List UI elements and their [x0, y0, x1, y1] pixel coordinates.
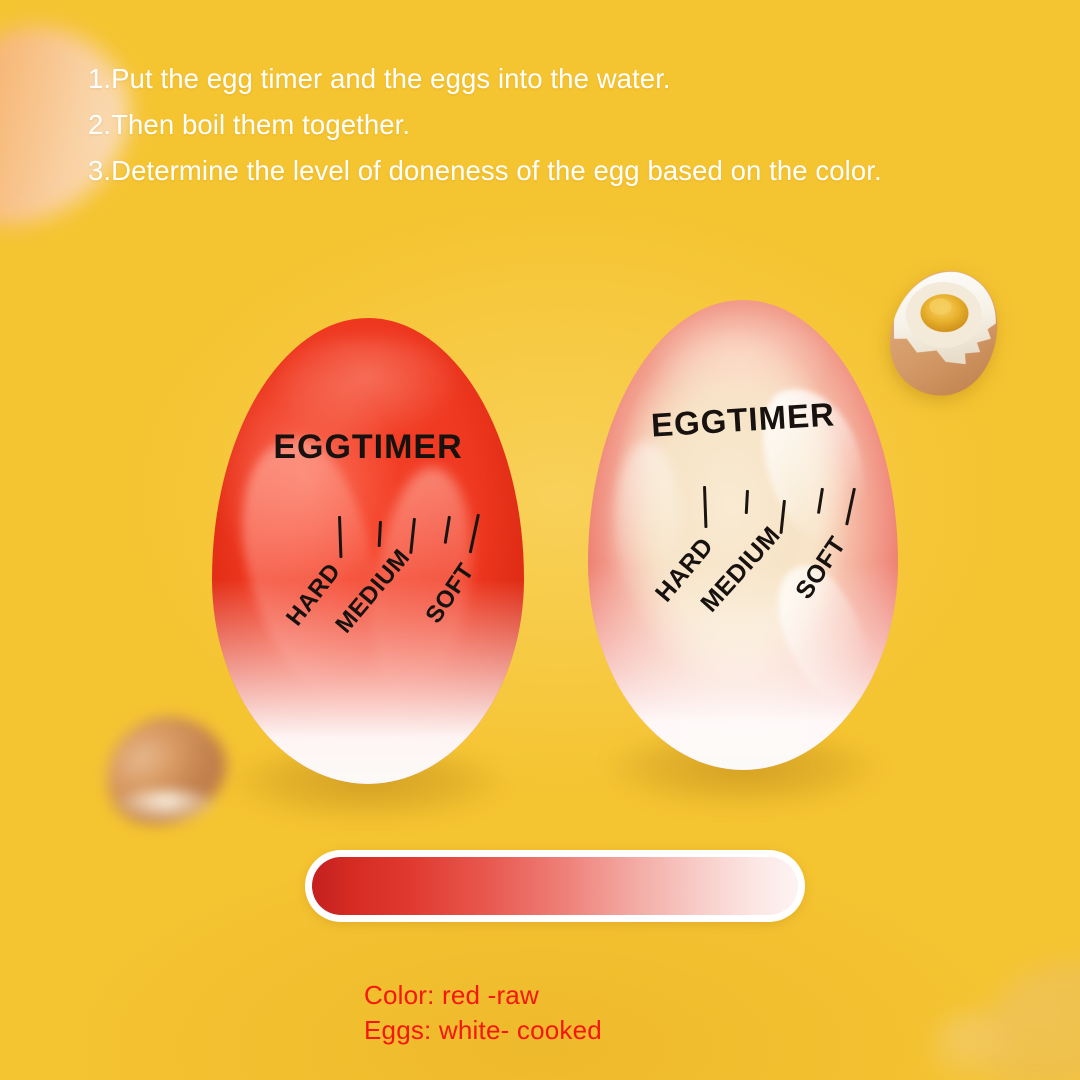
- blurred-bottom-right-prop-2: [930, 1010, 1020, 1080]
- instruction-step-3: 3.Determine the level of doneness of the…: [88, 148, 1068, 194]
- egg-timer-raw: EGGTIMER HARD MEDIUM SOFT: [212, 318, 524, 784]
- gradient-fill: [312, 857, 798, 915]
- egg-body-raw: [212, 318, 524, 784]
- egg-highlight-top: [268, 337, 461, 440]
- egg-timer-cooked: EGGTIMER HARD MEDIUM SOFT: [588, 300, 898, 770]
- instruction-list: 1.Put the egg timer and the eggs into th…: [88, 56, 1068, 194]
- caption-line-eggs: Eggs: white- cooked: [364, 1013, 602, 1048]
- product-infographic: EGGTIMER HARD MEDIUM SOFT EGGTIMER: [0, 0, 1080, 1080]
- caption-line-color: Color: red -raw: [364, 978, 602, 1013]
- blurred-bottom-right-prop: [980, 960, 1080, 1080]
- egg-highlight-right: [358, 462, 484, 715]
- color-legend-caption: Color: red -raw Eggs: white- cooked: [364, 978, 602, 1048]
- egg-body-cooked: [588, 300, 898, 770]
- color-gradient-scale: [305, 850, 805, 922]
- egg-highlight-left: [613, 441, 681, 629]
- egg-specular-lower: [763, 554, 885, 713]
- instruction-step-2: 2.Then boil them together.: [88, 102, 1068, 148]
- instruction-step-1: 1.Put the egg timer and the eggs into th…: [88, 56, 1068, 102]
- egg-highlight-left: [224, 429, 400, 710]
- blurred-brown-egg-base: [112, 790, 220, 824]
